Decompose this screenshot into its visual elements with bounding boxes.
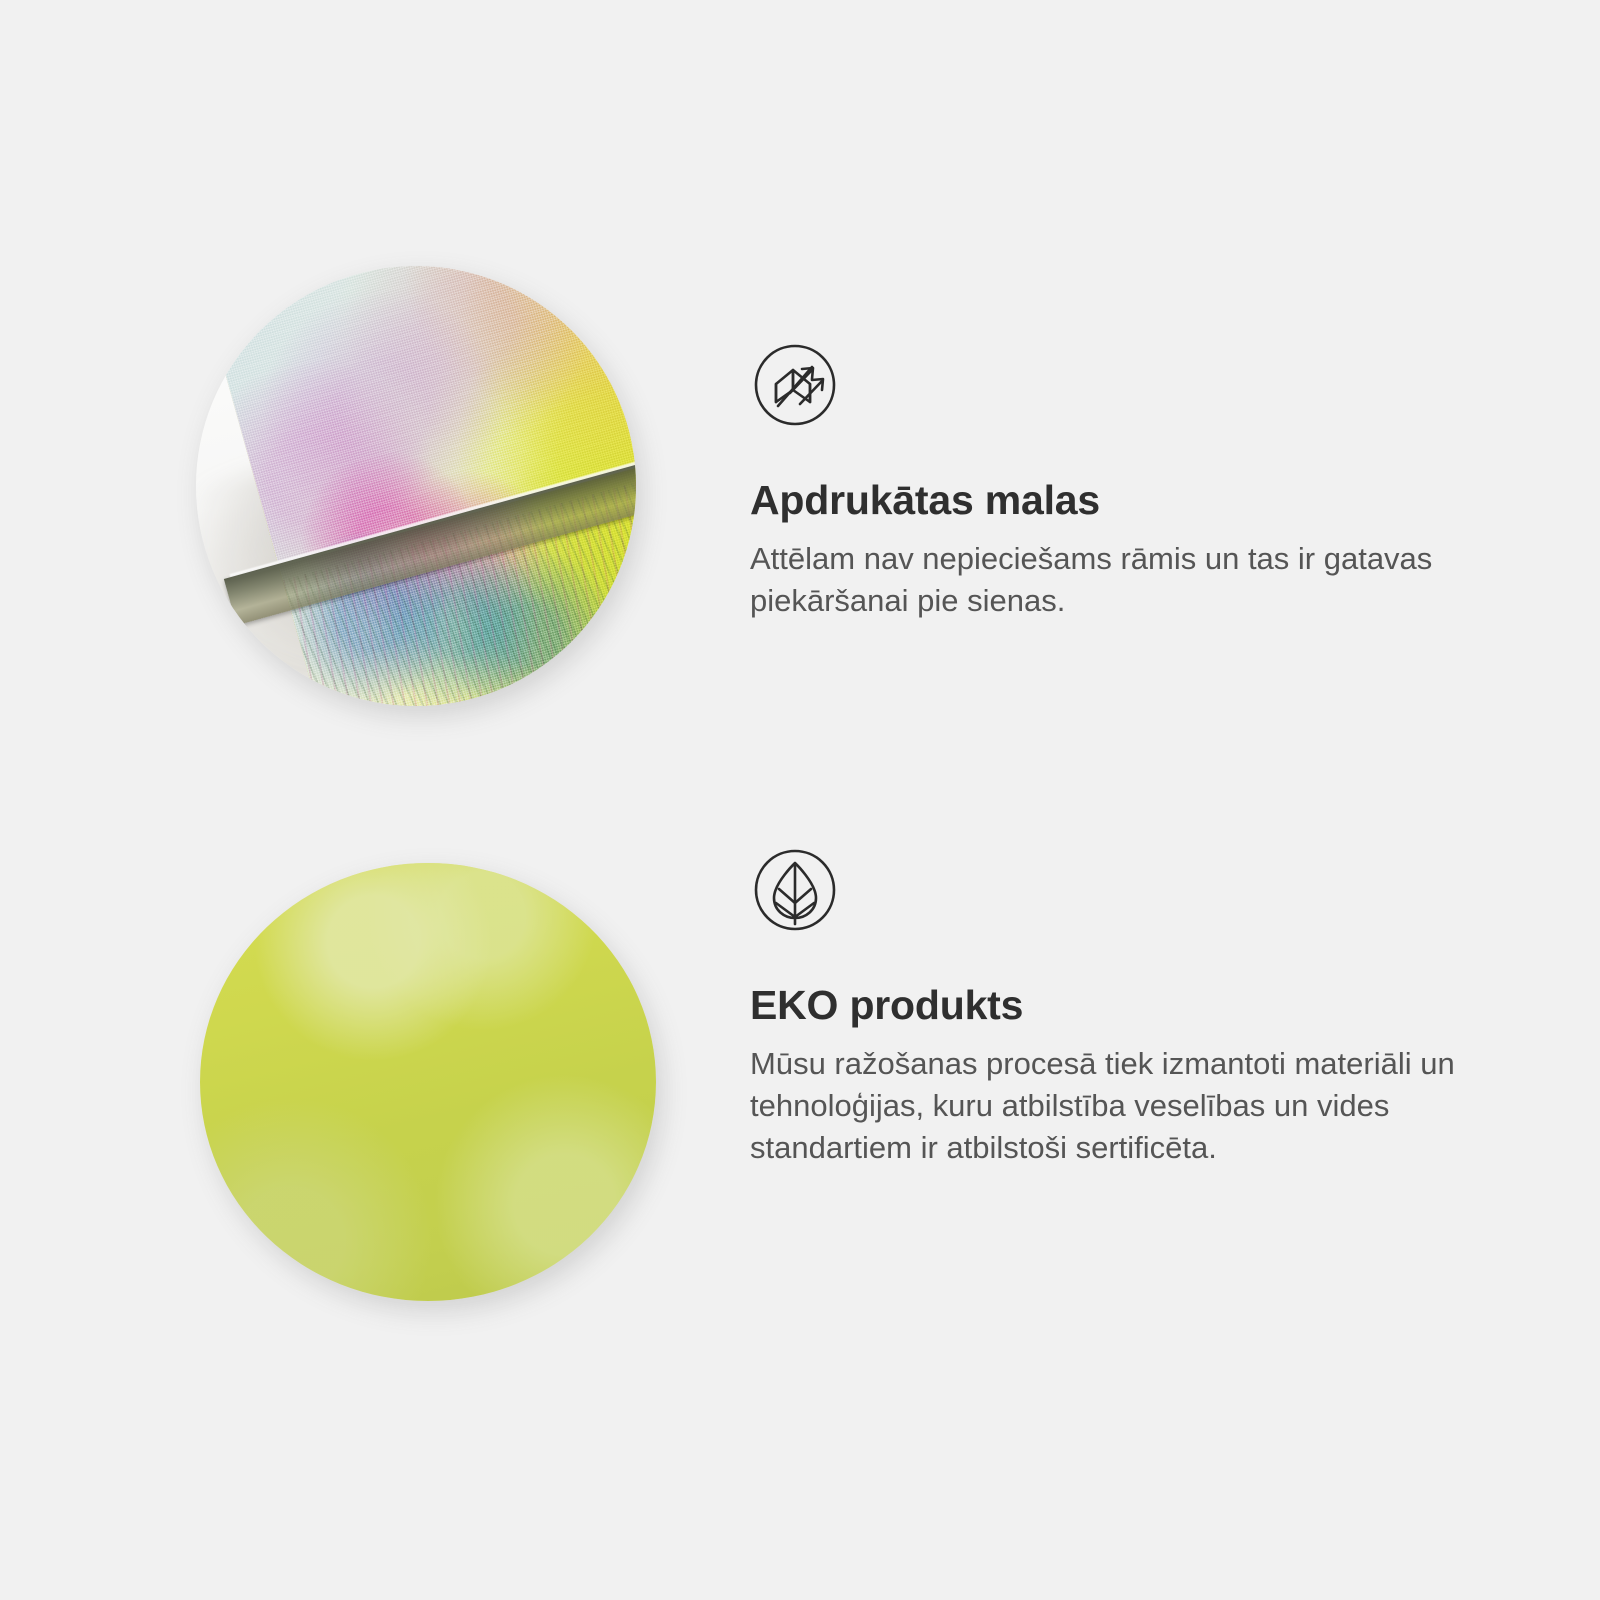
wood-chip bbox=[352, 863, 357, 872]
eco-photo-background bbox=[200, 863, 656, 1301]
wood-chip bbox=[392, 863, 416, 879]
feature-text-column: EKO produkts Mūsu ražošanas procesā tiek… bbox=[750, 845, 1490, 1169]
wood-chip bbox=[484, 863, 501, 877]
feature-block-printed-edges: Apdrukātas malas Attēlam nav nepieciešam… bbox=[0, 250, 1600, 720]
wood-chip bbox=[367, 863, 417, 873]
wood-chip bbox=[481, 863, 533, 870]
wood-chip bbox=[508, 863, 515, 875]
wood-chip bbox=[508, 863, 518, 877]
wood-chip bbox=[470, 863, 479, 878]
wood-chip bbox=[521, 863, 539, 873]
wood-chip bbox=[348, 863, 367, 877]
wood-chip bbox=[492, 863, 518, 871]
feature-block-eco-product: EKO produkts Mūsu ražošanas procesā tiek… bbox=[0, 845, 1600, 1315]
wood-chip bbox=[448, 863, 468, 865]
wood-chip bbox=[459, 863, 503, 879]
wood-chip bbox=[493, 863, 530, 864]
wood-chip bbox=[533, 863, 559, 874]
wood-chip bbox=[485, 863, 500, 889]
wood-chip bbox=[392, 863, 414, 869]
wood-chip bbox=[476, 863, 525, 871]
wood-chip bbox=[467, 863, 482, 874]
wood-chip bbox=[493, 863, 531, 877]
feature-text-column: Apdrukātas malas Attēlam nav nepieciešam… bbox=[750, 340, 1490, 622]
wood-chip bbox=[526, 863, 561, 882]
wood-chip bbox=[470, 863, 504, 866]
wood-chip bbox=[377, 863, 401, 880]
canvas-corner-photo bbox=[196, 266, 636, 706]
wood-chip bbox=[345, 863, 362, 866]
wood-chips-photo-circle bbox=[200, 863, 656, 1301]
wood-chip bbox=[363, 863, 370, 873]
wood-chip bbox=[392, 863, 394, 886]
wood-chip bbox=[490, 863, 507, 885]
wood-chip bbox=[438, 863, 456, 882]
wood-chip bbox=[374, 863, 380, 885]
feature-title: Apdrukātas malas bbox=[750, 478, 1490, 524]
printed-edges-icon bbox=[750, 340, 840, 430]
wood-chip bbox=[435, 863, 466, 866]
wood-chip bbox=[410, 863, 448, 880]
feature-info-page: Apdrukātas malas Attēlam nav nepieciešam… bbox=[0, 0, 1600, 1600]
wood-chip bbox=[386, 863, 410, 865]
canvas-corner-photo-circle bbox=[196, 266, 636, 706]
wood-chips-photo bbox=[200, 863, 656, 1301]
wood-chip bbox=[516, 863, 531, 877]
wood-chip bbox=[496, 863, 516, 882]
wood-chip bbox=[413, 863, 453, 877]
wood-chip bbox=[527, 863, 565, 872]
wood-chip bbox=[536, 863, 562, 884]
wood-chip bbox=[486, 863, 518, 884]
wood-chip bbox=[441, 863, 456, 872]
wood-chip bbox=[536, 863, 566, 871]
wood-chip bbox=[538, 863, 541, 873]
wood-chip bbox=[498, 863, 540, 881]
forearm-shape bbox=[200, 863, 500, 877]
wood-chip bbox=[493, 863, 497, 878]
wood-chip bbox=[455, 863, 472, 882]
wood-chip bbox=[549, 863, 584, 882]
feature-description: Mūsu ražošanas procesā tiek izmantoti ma… bbox=[750, 1043, 1470, 1169]
wood-chip bbox=[535, 863, 566, 870]
wood-chip bbox=[384, 863, 406, 876]
feature-title: EKO produkts bbox=[750, 983, 1490, 1029]
wood-chip bbox=[409, 863, 455, 876]
wood-chip bbox=[342, 863, 366, 881]
wood-chip bbox=[539, 863, 556, 883]
feature-description: Attēlam nav nepieciešams rāmis un tas ir… bbox=[750, 538, 1470, 622]
wood-chip bbox=[498, 863, 520, 886]
wood-chip bbox=[512, 863, 518, 873]
wood-chip bbox=[444, 863, 445, 891]
leaf-icon bbox=[750, 845, 840, 935]
wood-chip bbox=[543, 863, 566, 870]
canvas-photo-background bbox=[196, 266, 636, 706]
wood-chip bbox=[392, 863, 405, 869]
wood-chip bbox=[416, 863, 450, 871]
wood-chip bbox=[492, 863, 534, 875]
wood-chip bbox=[523, 863, 558, 873]
palm-shape bbox=[219, 863, 611, 873]
wood-chip bbox=[345, 863, 371, 878]
